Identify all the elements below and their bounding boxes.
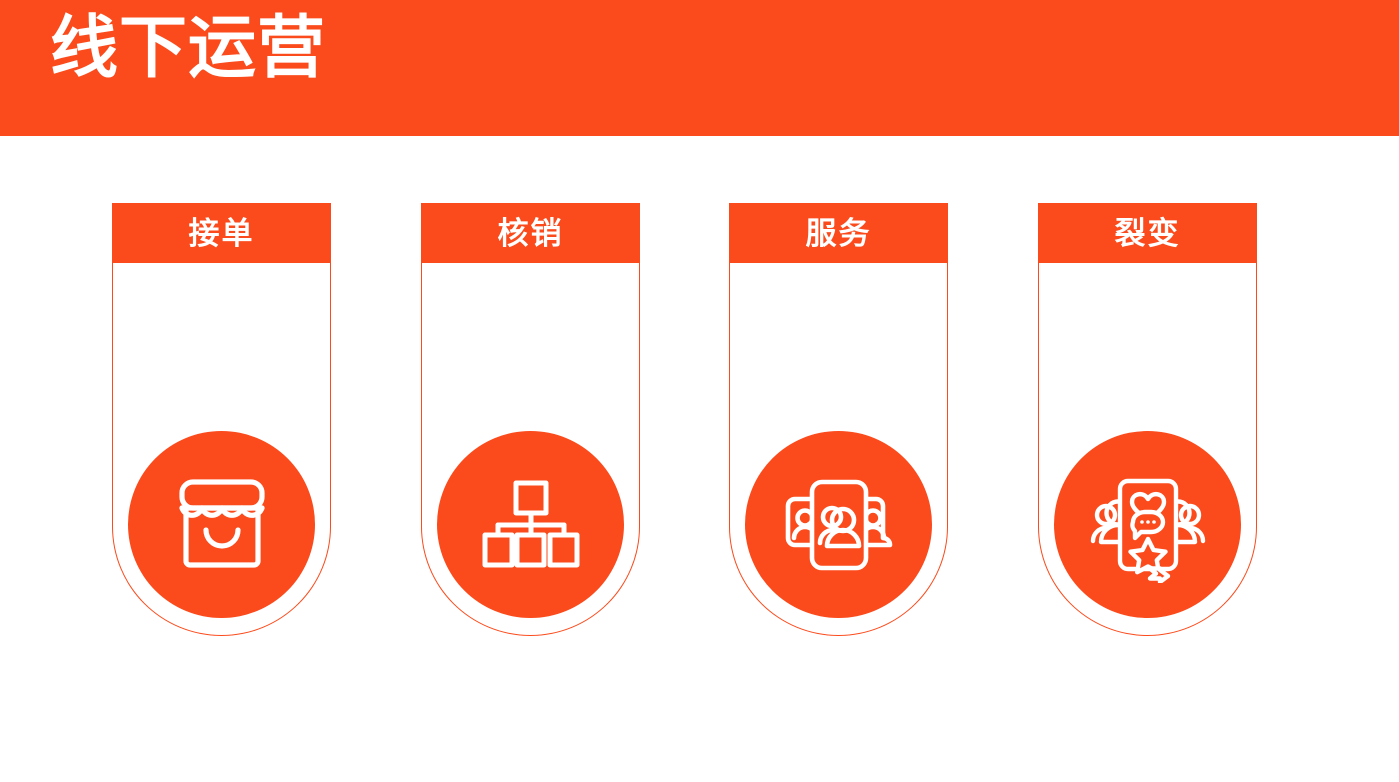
card-hexiao[interactable]: 核销 — [421, 203, 640, 636]
card-title-hexiao: 核销 — [498, 218, 564, 249]
card-icon-circle-hexiao — [437, 431, 624, 618]
card-jiedan[interactable]: 接单 — [112, 203, 331, 636]
card-header-liebian: 裂变 — [1038, 203, 1257, 263]
hierarchy-chart-icon — [481, 477, 581, 573]
card-header-hexiao: 核销 — [421, 203, 640, 263]
card-liebian[interactable]: 裂变 — [1038, 203, 1257, 636]
card-title-fuwu: 服务 — [806, 218, 872, 249]
contact-cards-people-icon — [783, 475, 895, 575]
cards-row: 接单 — [0, 203, 1399, 643]
card-header-fuwu: 服务 — [729, 203, 948, 263]
card-icon-circle-fuwu — [745, 431, 932, 618]
card-title-liebian: 裂变 — [1115, 218, 1181, 249]
header-banner: 线下运营 — [0, 0, 1399, 136]
card-icon-circle-liebian — [1054, 431, 1241, 618]
page-title: 线下运营 — [50, 14, 326, 82]
card-fuwu[interactable]: 服务 — [729, 203, 948, 636]
storefront-icon — [170, 473, 274, 577]
card-icon-circle-jiedan — [128, 431, 315, 618]
card-header-jiedan: 接单 — [112, 203, 331, 263]
card-title-jiedan: 接单 — [189, 218, 255, 249]
social-sharing-viral-icon — [1088, 467, 1208, 583]
